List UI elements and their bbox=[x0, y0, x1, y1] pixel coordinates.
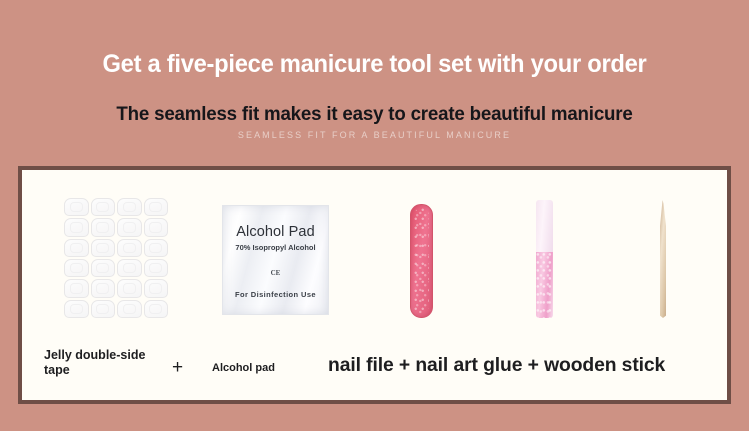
glue-cap bbox=[536, 200, 553, 252]
jelly-tab bbox=[91, 259, 116, 277]
product-label-rest-of-set: nail file + nail art glue + wooden stick bbox=[328, 354, 665, 377]
jelly-tab bbox=[64, 198, 89, 216]
product-label-jelly-tape: Jelly double-side tape bbox=[44, 348, 159, 378]
product-image-jelly-tape bbox=[34, 170, 204, 340]
jelly-tab bbox=[64, 239, 89, 257]
jelly-tab bbox=[64, 300, 89, 318]
jelly-tab bbox=[64, 259, 89, 277]
nail-art-glue-icon bbox=[536, 200, 553, 318]
jelly-tab bbox=[117, 218, 142, 236]
product-label-row: Jelly double-side tape + Alcohol pad nai… bbox=[22, 340, 727, 400]
jelly-tab bbox=[117, 198, 142, 216]
alcohol-pad-packet-title: Alcohol Pad bbox=[223, 224, 328, 240]
jelly-tab bbox=[144, 239, 169, 257]
product-image-nail-art-glue bbox=[484, 170, 609, 340]
product-image-wooden-stick bbox=[609, 170, 729, 340]
label-plus-separator: + bbox=[172, 357, 183, 379]
headline-secondary: The seamless fit makes it easy to create… bbox=[15, 103, 734, 126]
promo-banner: Get a five-piece manicure tool set with … bbox=[0, 0, 749, 431]
headline-primary: Get a five-piece manicure tool set with … bbox=[19, 50, 731, 79]
jelly-tab bbox=[64, 279, 89, 297]
nail-file-icon bbox=[410, 204, 433, 318]
jelly-tab bbox=[144, 259, 169, 277]
jelly-tab bbox=[117, 239, 142, 257]
ce-mark-icon: CE bbox=[223, 269, 328, 277]
jelly-tab bbox=[144, 198, 169, 216]
product-showcase-panel: Alcohol Pad 70% Isopropyl Alcohol CE For… bbox=[22, 170, 727, 400]
jelly-tab bbox=[117, 259, 142, 277]
product-showcase-frame: Alcohol Pad 70% Isopropyl Alcohol CE For… bbox=[18, 166, 731, 404]
alcohol-pad-packet-usage: For Disinfection Use bbox=[223, 290, 328, 299]
alcohol-pad-packet-subtitle: 70% Isopropyl Alcohol bbox=[223, 243, 328, 252]
jelly-tab bbox=[91, 279, 116, 297]
jelly-tab bbox=[144, 218, 169, 236]
product-image-row: Alcohol Pad 70% Isopropyl Alcohol CE For… bbox=[22, 170, 727, 340]
jelly-tab bbox=[117, 300, 142, 318]
jelly-tab bbox=[91, 198, 116, 216]
product-image-nail-file bbox=[364, 170, 484, 340]
jelly-tab bbox=[144, 279, 169, 297]
jelly-tab bbox=[117, 279, 142, 297]
jelly-tab bbox=[91, 239, 116, 257]
wooden-stick-icon bbox=[660, 200, 666, 318]
product-image-alcohol-pad: Alcohol Pad 70% Isopropyl Alcohol CE For… bbox=[204, 170, 364, 340]
glue-body bbox=[536, 252, 553, 318]
jelly-tab bbox=[91, 300, 116, 318]
jelly-tab bbox=[64, 218, 89, 236]
product-label-alcohol-pad: Alcohol pad bbox=[212, 362, 332, 374]
headline-tagline: SEAMLESS FIT FOR A BEAUTIFUL MANICURE bbox=[0, 130, 749, 140]
jelly-tab bbox=[144, 300, 169, 318]
jelly-tape-sheet-icon bbox=[64, 198, 168, 318]
jelly-tab bbox=[91, 218, 116, 236]
alcohol-pad-packet-icon: Alcohol Pad 70% Isopropyl Alcohol CE For… bbox=[222, 205, 329, 315]
